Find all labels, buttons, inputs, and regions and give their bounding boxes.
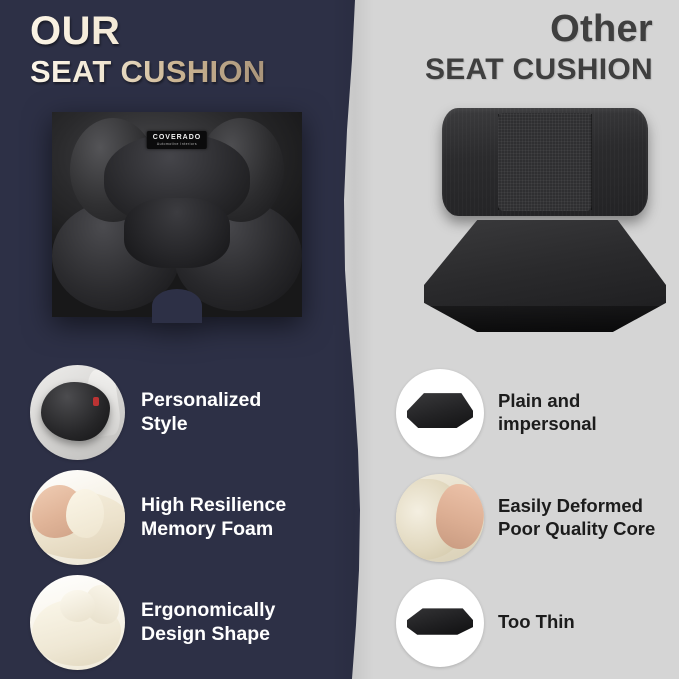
brand-label-name: COVERADO [153, 134, 201, 141]
thin-pad-shape [407, 608, 474, 634]
brand-label: COVERADO Automotive Interiors [147, 131, 207, 149]
cushion-waist [124, 198, 230, 268]
our-feature-label-2: High Resilience Memory Foam [141, 494, 286, 542]
our-heading-line2: SEAT CUSHION [30, 54, 266, 90]
other-heading: Other SEAT CUSHION [425, 10, 653, 87]
our-feature-label-1: Personalized Style [141, 389, 261, 437]
car-seat-installed-thumb-icon [30, 365, 125, 460]
pillow-mesh-panel [498, 113, 592, 211]
other-feature-1-line1: Plain and [498, 390, 597, 413]
our-feature-1-line1: Personalized [141, 389, 261, 413]
our-feature-list: Personalized Style High Resilience Memor… [30, 360, 330, 675]
pad-shape [407, 393, 474, 428]
other-feature-label-3: Too Thin [498, 611, 575, 634]
other-feature-2-line1: Easily Deformed [498, 495, 655, 518]
other-feature-row-3: Too Thin [396, 570, 671, 675]
our-feature-label-3: Ergonomically Design Shape [141, 599, 275, 647]
other-feature-label-1: Plain and impersonal [498, 390, 597, 435]
plain-black-pad-thumb-icon [396, 369, 484, 457]
our-feature-row-3: Ergonomically Design Shape [30, 570, 330, 675]
our-feature-3-line1: Ergonomically [141, 599, 275, 623]
cushion-shape [41, 382, 109, 441]
cushion-bottom-notch [152, 289, 202, 323]
other-feature-label-2: Easily Deformed Poor Quality Core [498, 495, 655, 540]
brand-label-tagline: Automotive Interiors [153, 143, 201, 146]
our-feature-row-2: High Resilience Memory Foam [30, 465, 330, 570]
hand-pressing-foam-thumb-icon [30, 470, 125, 565]
foam-bump-shape [60, 590, 94, 622]
thumb-finger-shape [436, 484, 484, 549]
our-hero-image: COVERADO Automotive Interiors [52, 112, 302, 317]
deformed-foam-thumb-icon [396, 474, 484, 562]
plain-seat-pad [424, 220, 666, 332]
other-heading-line2: SEAT CUSHION [425, 53, 653, 88]
comparison-infographic: OUR SEAT CUSHION Other SEAT CUSHION COVE… [0, 0, 679, 679]
other-feature-row-2: Easily Deformed Poor Quality Core [396, 465, 671, 570]
ergonomic-foam-core-thumb-icon [30, 575, 125, 670]
other-feature-2-line2: Poor Quality Core [498, 518, 655, 541]
plain-back-pillow [442, 108, 648, 216]
buckle-shape [93, 397, 100, 406]
our-feature-2-line1: High Resilience [141, 494, 286, 518]
thin-black-pad-thumb-icon [396, 579, 484, 667]
our-feature-3-line2: Design Shape [141, 623, 275, 647]
other-feature-row-1: Plain and impersonal [396, 360, 671, 465]
other-feature-3-line1: Too Thin [498, 611, 575, 634]
other-heading-line1: Other [425, 10, 653, 50]
our-heading: OUR SEAT CUSHION [30, 10, 266, 90]
other-feature-1-line2: impersonal [498, 413, 597, 436]
our-heading-line1: OUR [30, 10, 266, 52]
our-feature-1-line2: Style [141, 413, 261, 437]
our-feature-row-1: Personalized Style [30, 360, 330, 465]
other-feature-list: Plain and impersonal Easily Deformed Poo… [396, 360, 671, 675]
our-feature-2-line2: Memory Foam [141, 518, 286, 542]
foam-press-shape [66, 489, 104, 538]
other-hero-image [420, 108, 670, 343]
